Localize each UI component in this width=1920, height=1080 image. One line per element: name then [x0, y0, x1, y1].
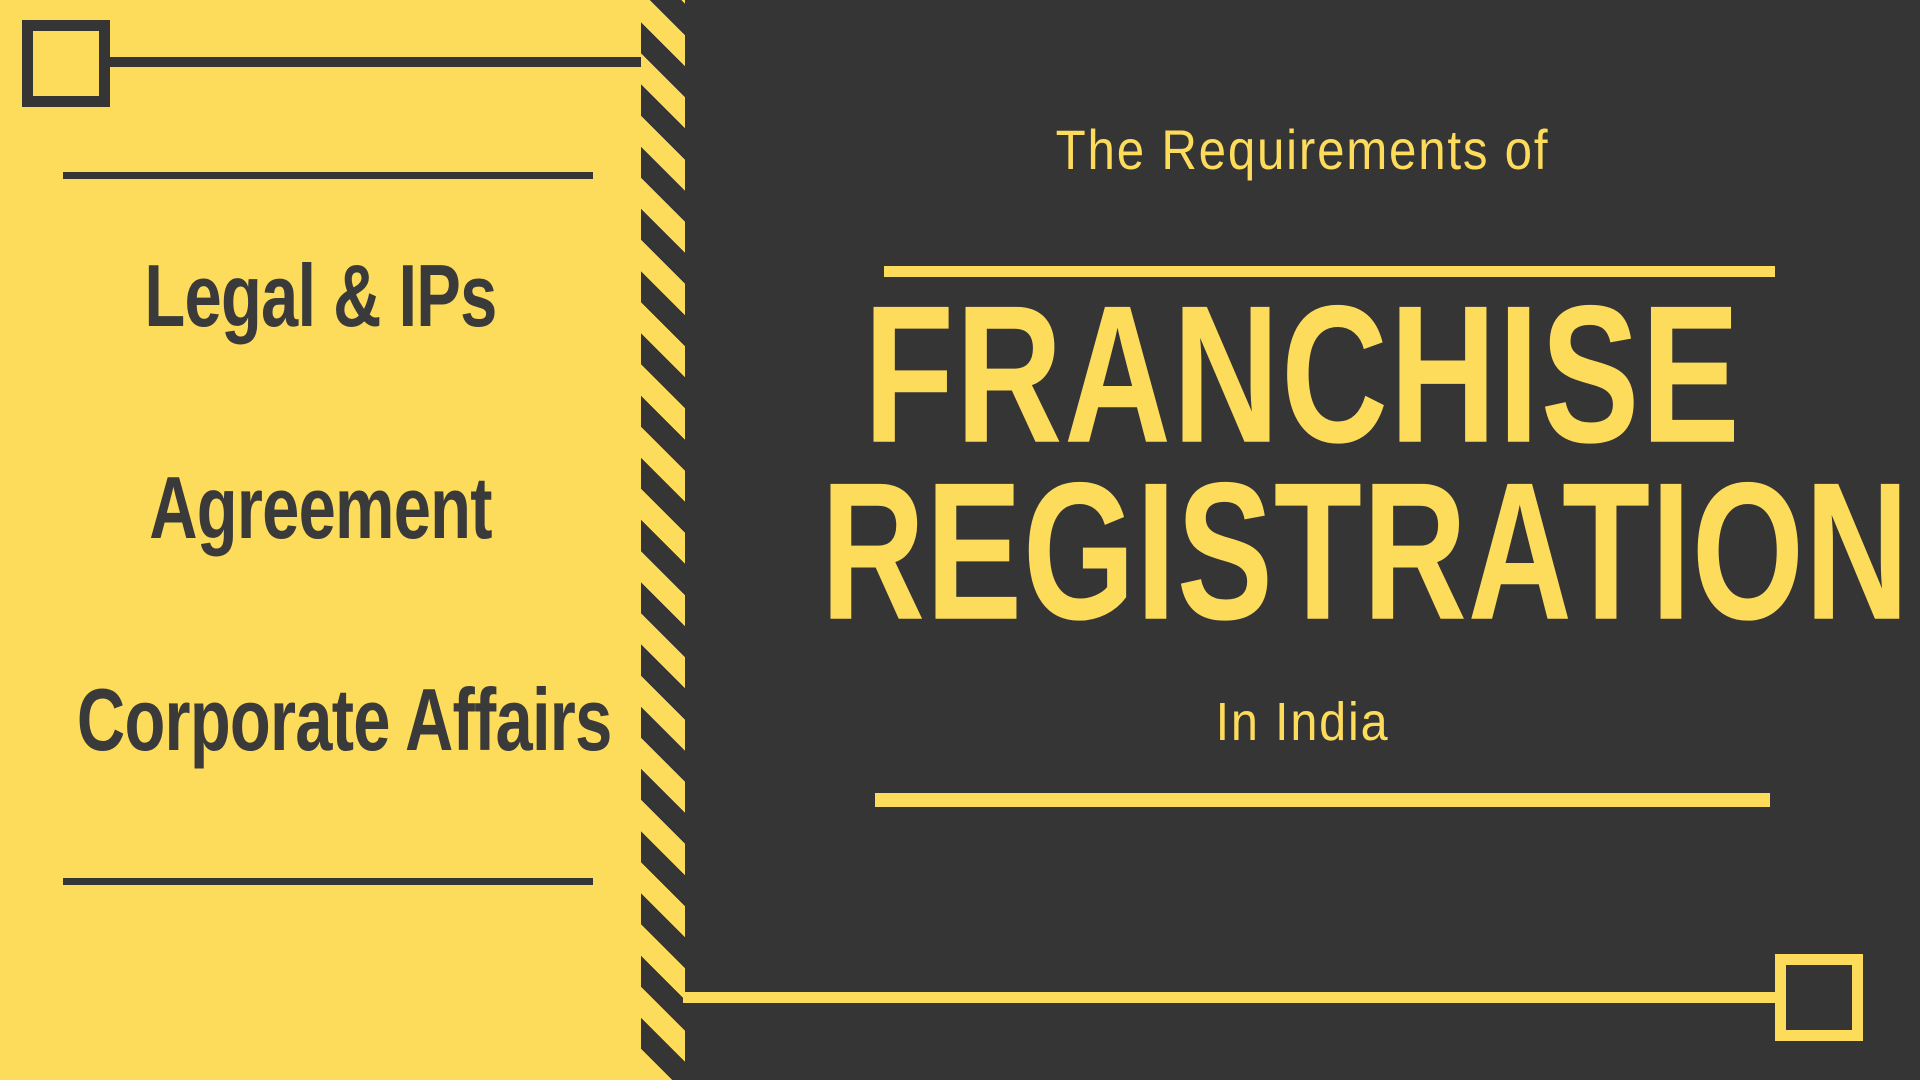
square-outline-icon-top-left [22, 20, 110, 107]
left-yellow-panel: Legal & IPs Agreement Corporate Affairs [0, 0, 641, 1080]
eyebrow-text: The Requirements of [759, 122, 1846, 178]
poster-canvas: Legal & IPs Agreement Corporate Affairs … [0, 0, 1920, 1080]
square-outline-icon-bottom-right [1775, 954, 1863, 1041]
divider-rule-top [63, 172, 593, 179]
left-list-item-agreement: Agreement [77, 464, 564, 552]
horizontal-connector-line-top-left [110, 57, 642, 67]
title-rule-bottom [875, 793, 1770, 807]
page-title-line-2: REGISTRATION [821, 454, 1784, 650]
diagonal-stripe-divider [641, 0, 685, 1080]
subtitle-text: In India [747, 695, 1859, 749]
left-list-item-legal-ips: Legal & IPs [77, 252, 564, 340]
left-list-item-corporate-affairs: Corporate Affairs [77, 676, 564, 764]
right-dark-panel: The Requirements of FRANCHISE REGISTRATI… [685, 0, 1920, 1080]
divider-rule-bottom [63, 878, 593, 885]
horizontal-connector-line-bottom-right [683, 992, 1783, 1003]
